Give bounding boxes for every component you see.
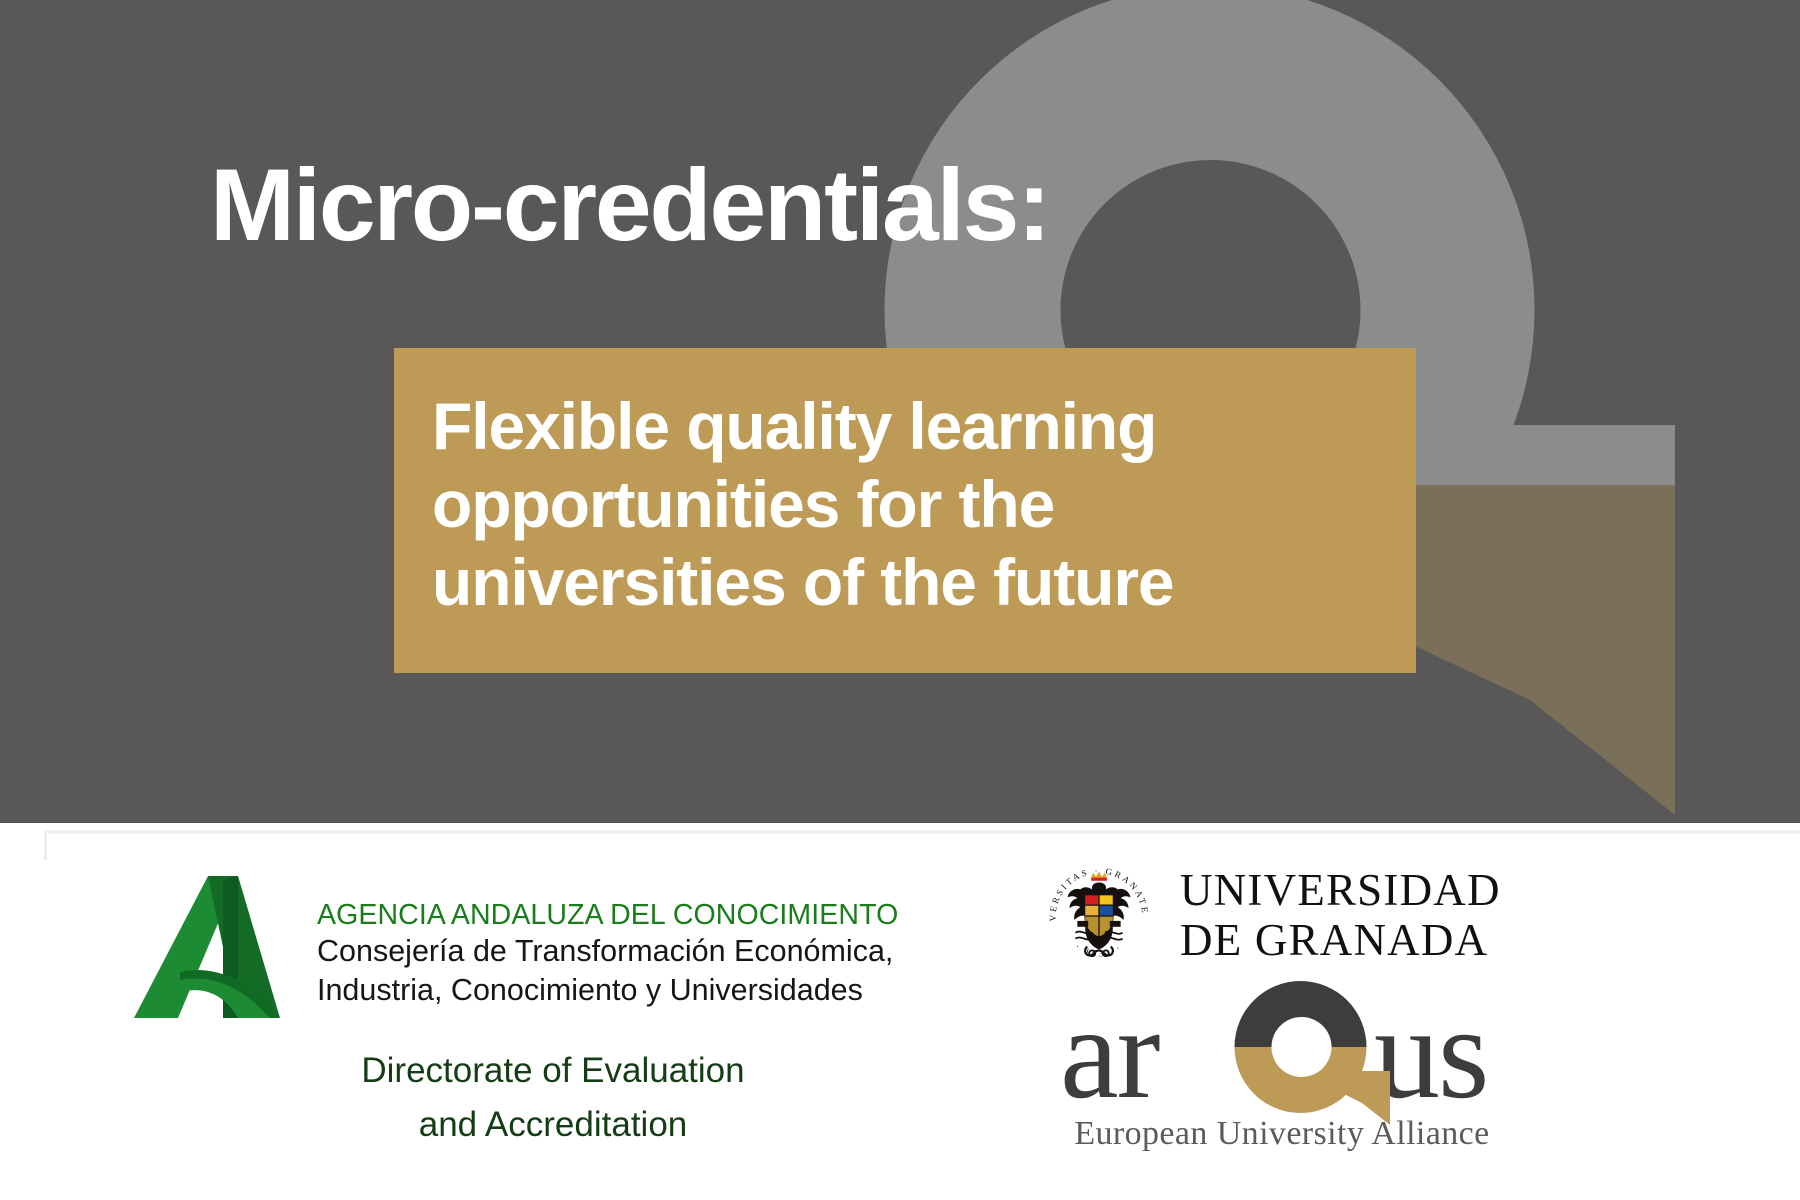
aac-agency-name: AGENCIA ANDALUZA DEL CONOCIMIENTO [317, 898, 898, 932]
footer-divider-tick [44, 830, 47, 860]
agencia-andaluza-logo-block: AGENCIA ANDALUZA DEL CONOCIMIENTO Consej… [120, 862, 950, 1172]
subtitle-panel: Flexible quality learning opportunities … [394, 348, 1416, 673]
arqus-logo-icon: ar us [1056, 975, 1508, 1125]
universidad-de-granada-logo-block: UNIVERSITAS · GRANATENSIS · 1531 · [1040, 855, 1640, 975]
svg-text:ar: ar [1060, 979, 1160, 1125]
presentation-slide: Micro-credentials: Flexible quality lear… [0, 0, 1800, 1200]
ugr-wordmark: UNIVERSIDAD DE GRANADA [1180, 865, 1501, 966]
aac-department-line-2: Industria, Conocimiento y Universidades [317, 971, 898, 1009]
aac-department-line-1: Consejería de Transformación Económica, [317, 932, 898, 970]
universidad-de-granada-seal-icon: UNIVERSITAS · GRANATENSIS · 1531 · [1040, 856, 1158, 974]
page-title: Micro-credentials: [210, 152, 1510, 259]
aac-logo-row: AGENCIA ANDALUZA DEL CONOCIMIENTO Consej… [120, 862, 898, 1022]
arqus-tagline: European University Alliance [1056, 1115, 1508, 1153]
aac-directorate-line-1: Directorate of Evaluation [278, 1044, 828, 1098]
footer-divider [44, 830, 1800, 834]
aac-directorate-block: Directorate of Evaluation and Accreditat… [278, 1044, 828, 1153]
junta-de-andalucia-a-icon [120, 870, 295, 1022]
subtitle-line-1: Flexible quality learning [432, 388, 1378, 466]
hero-banner: Micro-credentials: Flexible quality lear… [0, 0, 1800, 823]
aac-directorate-line-2: and Accreditation [278, 1098, 828, 1152]
aac-text-block: AGENCIA ANDALUZA DEL CONOCIMIENTO Consej… [317, 862, 898, 1009]
ugr-wordmark-line-2: DE GRANADA [1180, 915, 1501, 965]
subtitle-line-2: opportunities for the [432, 466, 1378, 544]
arqus-logo-block: ar us European Uni [1056, 975, 1516, 1190]
ugr-wordmark-line-1: UNIVERSIDAD [1180, 865, 1501, 915]
svg-text:us: us [1374, 979, 1487, 1125]
subtitle-line-3: universities of the future [432, 544, 1378, 622]
